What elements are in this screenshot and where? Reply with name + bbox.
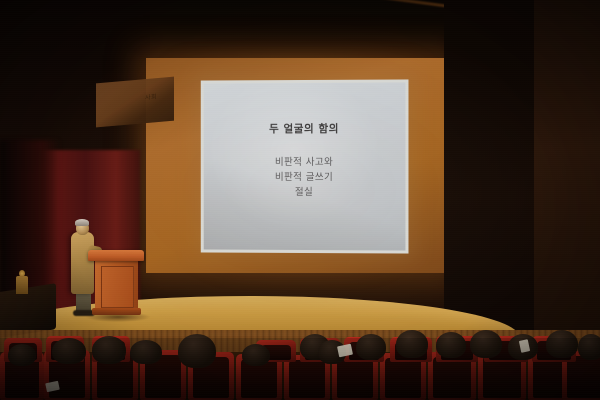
slide-title: 두 얼굴의 함의: [204, 121, 406, 136]
audience-shadow-overlay: [0, 338, 600, 400]
projection-screen: 두 얼굴의 함의 비판적 사고와 비판적 글쓰기 절실: [204, 83, 406, 251]
banner-fold-shading: [96, 77, 174, 128]
speaker-coat: [71, 232, 94, 294]
right-dark-wall: [444, 0, 540, 330]
banner-text: 사회: [145, 91, 157, 101]
stage-equipment-post: [16, 276, 28, 294]
slide-body-line-2: 비판적 글쓰기: [204, 170, 406, 185]
far-right-wall: [534, 0, 600, 330]
auditorium-screenshot: 사회 두 얼굴의 함의 비판적 사고와 비판적 글쓰기 절실: [0, 0, 600, 400]
podium-top: [88, 250, 144, 261]
stage-equipment-finial: [19, 270, 25, 277]
speaker-hair: [75, 219, 89, 226]
podium-front-panel: [101, 266, 134, 308]
slide-body-line-3: 절실: [204, 185, 406, 200]
podium-base: [92, 308, 141, 315]
slide-body-line-1: 비판적 사고와: [204, 155, 406, 170]
slide-body: 비판적 사고와 비판적 글쓰기 절실: [204, 155, 406, 200]
